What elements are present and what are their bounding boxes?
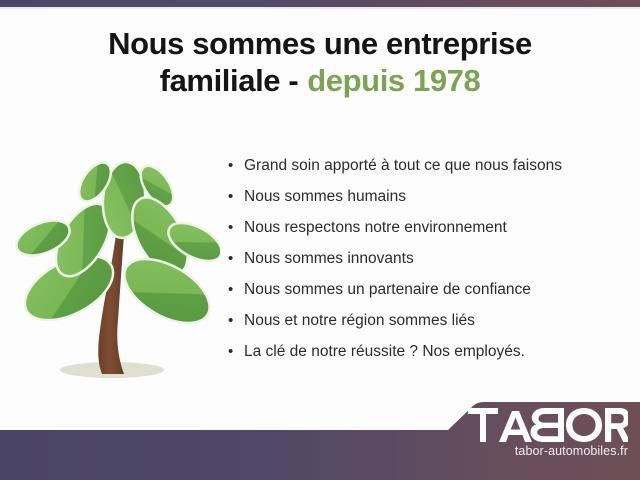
bullet-marker-icon: • <box>228 305 244 336</box>
list-item-label: Nous sommes humains <box>244 181 406 212</box>
list-item-label: La clé de notre réussite ? Nos employés. <box>244 336 525 367</box>
bullet-marker-icon: • <box>228 274 244 305</box>
tree-icon <box>12 148 220 392</box>
list-item: • La clé de notre réussite ? Nos employé… <box>228 336 628 367</box>
list-item: • Nous sommes un partenaire de confiance <box>228 274 628 305</box>
slide-canvas: Nous sommes une entreprise familiale -de… <box>0 0 640 480</box>
title-line-2: familiale -depuis 1978 <box>0 63 640 100</box>
value-list: • Grand soin apporté à tout ce que nous … <box>228 150 628 367</box>
bullet-marker-icon: • <box>228 336 244 367</box>
list-item: • Nous et notre région sommes liés <box>228 305 628 336</box>
title-line-1: Nous sommes une entreprise <box>0 26 640 63</box>
list-item-label: Grand soin apporté à tout ce que nous fa… <box>244 150 562 181</box>
top-accent-bar <box>0 0 640 7</box>
list-item-label: Nous sommes un partenaire de confiance <box>244 274 531 305</box>
bullet-marker-icon: • <box>228 212 244 243</box>
brand-logo-block[interactable]: tabor-automobiles.fr <box>460 408 628 458</box>
footer-bar: tabor-automobiles.fr <box>0 398 640 480</box>
list-item: • Nous respectons notre environnement <box>228 212 628 243</box>
list-item-label: Nous sommes innovants <box>244 243 414 274</box>
list-item-label: Nous respectons notre environnement <box>244 212 507 243</box>
list-item-label: Nous et notre région sommes liés <box>244 305 475 336</box>
tree-trunk <box>98 232 124 374</box>
brand-url-label[interactable]: tabor-automobiles.fr <box>460 444 628 458</box>
bullet-marker-icon: • <box>228 181 244 212</box>
tree-illustration <box>12 148 220 392</box>
top-accent-hairline <box>0 7 640 9</box>
title-line-2-accent: depuis 1978 <box>307 63 480 98</box>
page-title: Nous sommes une entreprise familiale -de… <box>0 26 640 99</box>
list-item: • Grand soin apporté à tout ce que nous … <box>228 150 628 181</box>
bullet-marker-icon: • <box>228 243 244 274</box>
list-item: • Nous sommes humains <box>228 181 628 212</box>
bullet-marker-icon: • <box>228 150 244 181</box>
tabor-wordmark-logo <box>468 408 628 442</box>
list-item: • Nous sommes innovants <box>228 243 628 274</box>
title-line-2-black: familiale - <box>160 63 299 98</box>
